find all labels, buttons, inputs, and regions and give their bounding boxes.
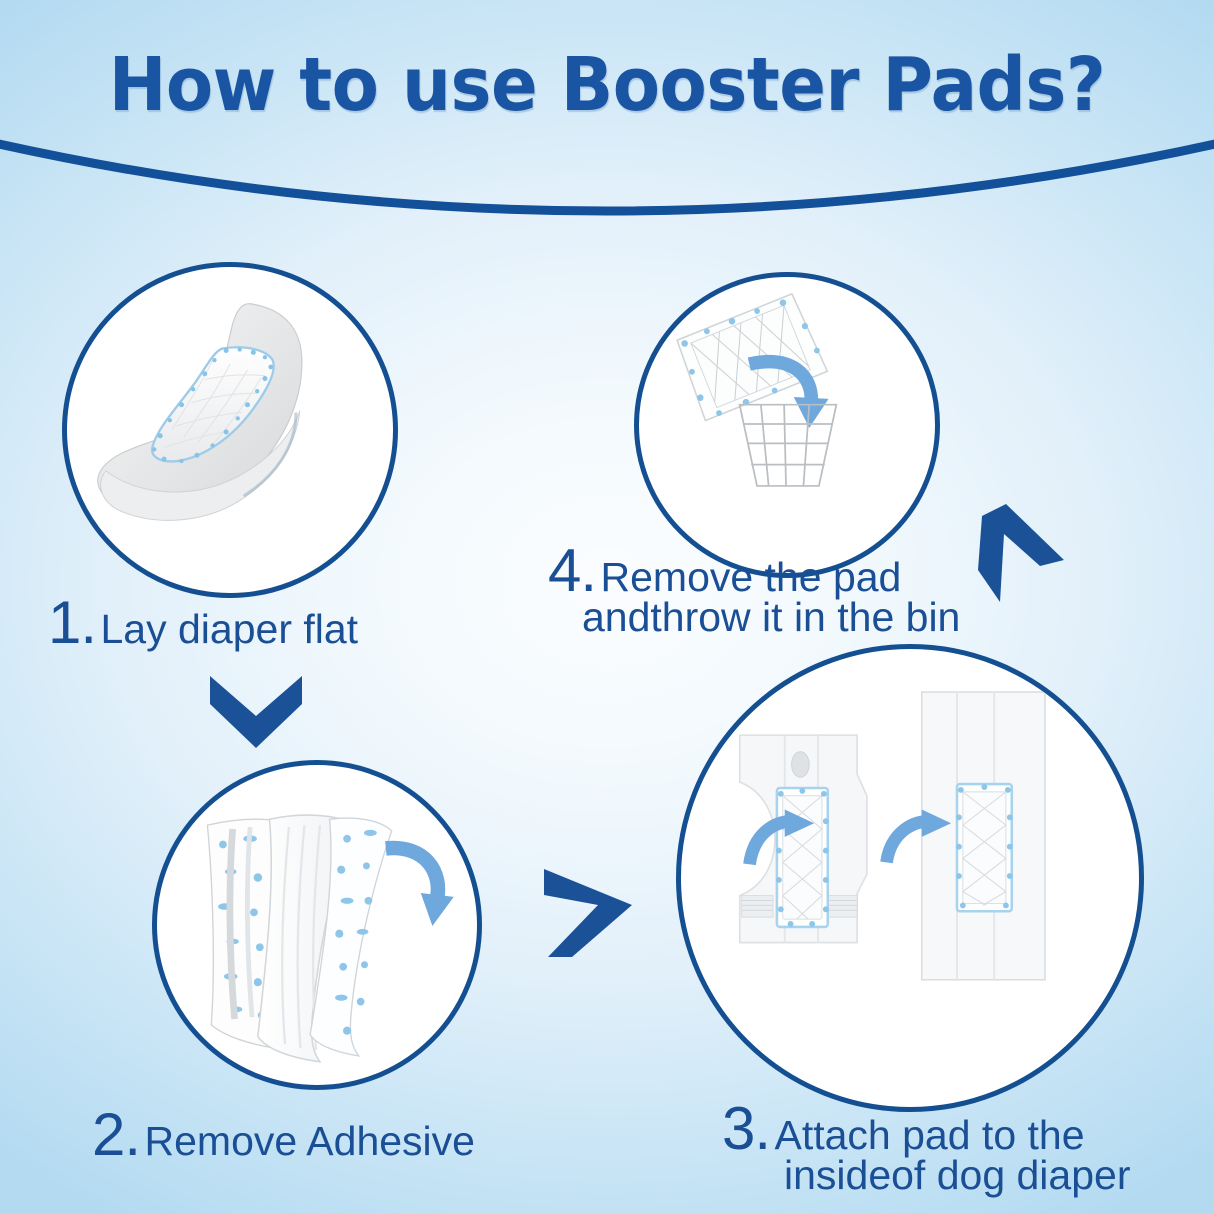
step-2-illustration-circle [152, 760, 482, 1090]
step-3-text-line-1: Attach pad to the [775, 1112, 1085, 1158]
step-1-number: 1. [48, 589, 96, 656]
step-4-text-line-2: andthrow it in the bin [582, 596, 960, 639]
header-divider [0, 130, 1214, 260]
step-2-caption: 2. Remove Adhesive [92, 1104, 475, 1166]
trash-bin-icon [740, 405, 837, 486]
step-3-illustration-circle [676, 644, 1144, 1112]
chevron-right-icon [536, 845, 648, 963]
step-1-text: Lay diaper flat [101, 606, 359, 652]
peel-arrow-icon [386, 848, 454, 926]
step-3-text-line-2: insideof dog diaper [784, 1154, 1130, 1197]
step-4-text-line-1: Remove the pad [601, 554, 902, 600]
step-1-illustration-circle [62, 262, 398, 598]
page-title: How to use Booster Pads? [42, 42, 1171, 128]
dog-belly-band-view [922, 692, 1045, 980]
chevron-up-icon [960, 498, 1072, 616]
infographic-canvas: How to use Booster Pads? [0, 0, 1214, 1214]
step-3-caption: 3. Attach pad to the insideof dog diaper [722, 1098, 1130, 1197]
step-2-number: 2. [92, 1101, 140, 1168]
step-1-caption: 1. Lay diaper flat [48, 592, 358, 654]
step-3-number: 3. [722, 1095, 770, 1162]
step-4-caption: 4. Remove the pad andthrow it in the bin [548, 540, 960, 639]
chevron-down-icon [196, 672, 316, 754]
step-2-text: Remove Adhesive [145, 1118, 475, 1164]
step-4-illustration-circle [634, 272, 940, 578]
